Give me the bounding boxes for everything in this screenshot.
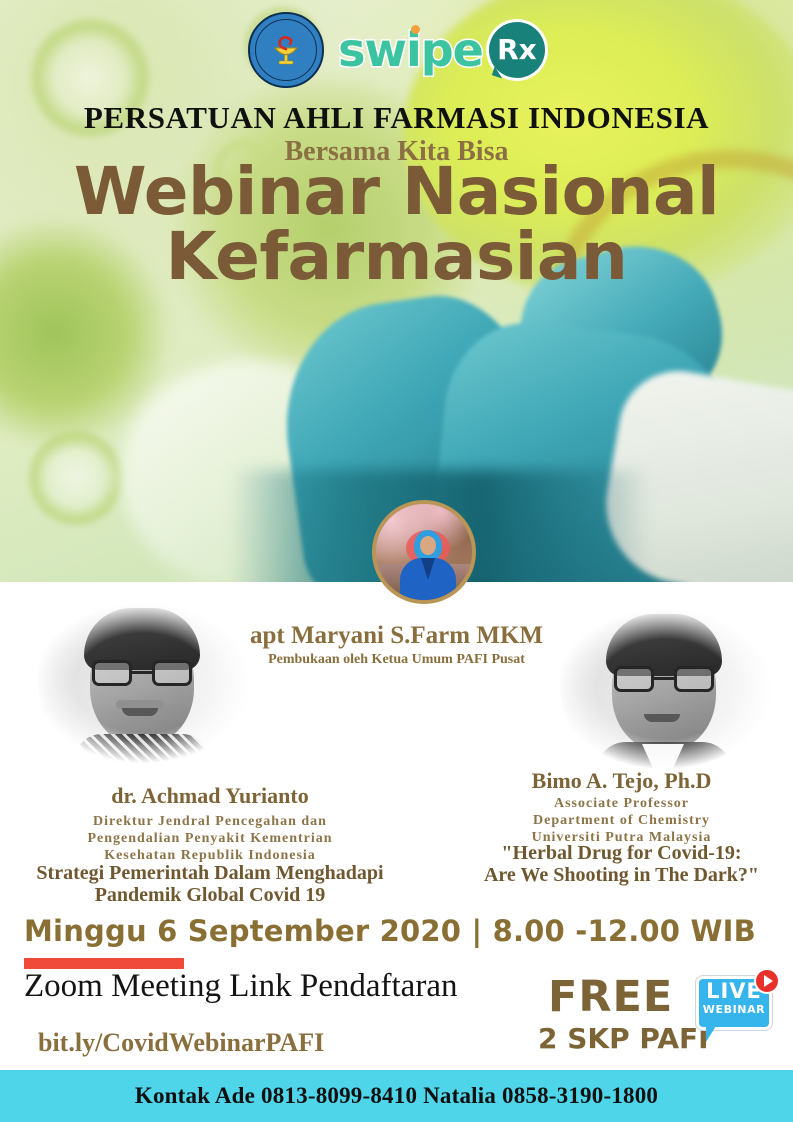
play-triangle-icon <box>764 975 773 987</box>
contact-footer: Kontak Ade 0813-8099-8410 Natalia 0858-3… <box>0 1070 793 1122</box>
lens-right <box>674 666 714 692</box>
speaker-affiliation-left: Direktur Jendral Pencegahan dan Pengenda… <box>0 813 420 864</box>
speaker-affiliation-right: Associate Professor Department of Chemis… <box>450 795 793 846</box>
title-line-2: Kefarmasian <box>0 225 793 290</box>
mouth <box>122 708 158 716</box>
webinar-poster: swipe Rx PERSATUAN AHLI FARMASI INDONESI… <box>0 0 793 1122</box>
play-button-icon <box>754 968 780 994</box>
speaker-topic-left: Strategi Pemerintah Dalam Menghadapi Pan… <box>0 862 420 907</box>
glasses-bridge <box>654 677 674 680</box>
pafi-logo-icon <box>248 12 324 88</box>
contact-text: Kontak Ade 0813-8099-8410 Natalia 0858-3… <box>135 1083 658 1109</box>
skp-credit-badge: 2 SKP PAFI <box>538 1022 709 1055</box>
speaker-name-right: Bimo A. Tejo, Ph.D <box>450 768 793 794</box>
page-title: Webinar Nasional Kefarmasian <box>0 160 793 289</box>
center-speaker-name: apt Maryani S.Farm MKM <box>0 622 793 650</box>
bowl-of-hygieia-icon <box>269 35 303 65</box>
avatar-face <box>420 536 436 555</box>
event-datetime: Minggu 6 September 2020 | 8.00 -12.00 WI… <box>24 914 756 948</box>
speaker-topic-right: "Herbal Drug for Covid-19: Are We Shooti… <box>450 842 793 887</box>
live-bubble-tail-icon <box>706 1026 724 1042</box>
live-webinar-badge: LIVE WEBINAR <box>694 972 778 1048</box>
speaker-name-left: dr. Achmad Yurianto <box>0 783 420 809</box>
mouth <box>644 714 680 722</box>
swiperx-logo: swipe Rx <box>338 22 545 78</box>
registration-link[interactable]: bit.ly/CovidWebinarPAFI <box>38 1028 324 1058</box>
swipe-wordmark: swipe <box>338 27 483 73</box>
rx-label: Rx <box>497 36 537 64</box>
rx-bubble-icon: Rx <box>489 22 545 78</box>
glasses-bridge <box>132 671 152 674</box>
webinar-label: WEBINAR <box>694 1004 774 1015</box>
logo-row: swipe Rx <box>0 8 793 92</box>
center-speaker-avatar <box>372 500 476 604</box>
zoom-registration-label: Zoom Meeting Link Pendaftaran <box>24 968 457 1005</box>
free-badge: FREE <box>548 972 673 1022</box>
glasses-icon <box>614 666 714 692</box>
center-speaker-role: Pembukaan oleh Ketua Umum PAFI Pusat <box>0 652 793 668</box>
batik-shirt <box>74 734 210 784</box>
lens-left <box>614 666 654 692</box>
organization-name: PERSATUAN AHLI FARMASI INDONESIA <box>0 100 793 136</box>
speaker-photo-left <box>38 592 248 767</box>
